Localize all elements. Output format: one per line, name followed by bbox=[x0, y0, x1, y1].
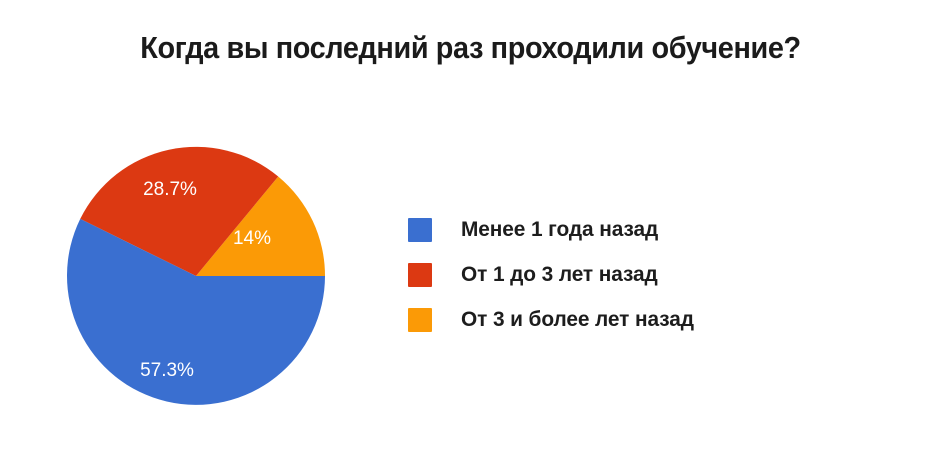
legend: Менее 1 года назад От 1 до 3 лет назад О… bbox=[408, 207, 828, 342]
legend-label-red: От 1 до 3 лет назад bbox=[461, 262, 658, 287]
pie-label-red: 28.7% bbox=[143, 179, 197, 200]
plot-area: 28.7% 14% 57.3% Менее 1 года назад От 1 … bbox=[0, 0, 941, 462]
legend-label-orange: От 3 и более лет назад bbox=[461, 307, 694, 332]
pie-graphic: 28.7% 14% 57.3% bbox=[57, 137, 335, 415]
legend-item-blue[interactable]: Менее 1 года назад bbox=[408, 207, 828, 252]
legend-item-red[interactable]: От 1 до 3 лет назад bbox=[408, 252, 828, 297]
pie-label-orange: 14% bbox=[233, 228, 271, 249]
legend-item-orange[interactable]: От 3 и более лет назад bbox=[408, 297, 828, 342]
legend-swatch-red-icon bbox=[408, 263, 432, 287]
legend-swatch-orange-icon bbox=[408, 308, 432, 332]
pie-chart-figure: Когда вы последний раз проходили обучени… bbox=[0, 0, 941, 462]
pie-label-blue: 57.3% bbox=[140, 360, 194, 381]
legend-swatch-blue-icon bbox=[408, 218, 432, 242]
legend-label-blue: Менее 1 года назад bbox=[461, 217, 658, 242]
